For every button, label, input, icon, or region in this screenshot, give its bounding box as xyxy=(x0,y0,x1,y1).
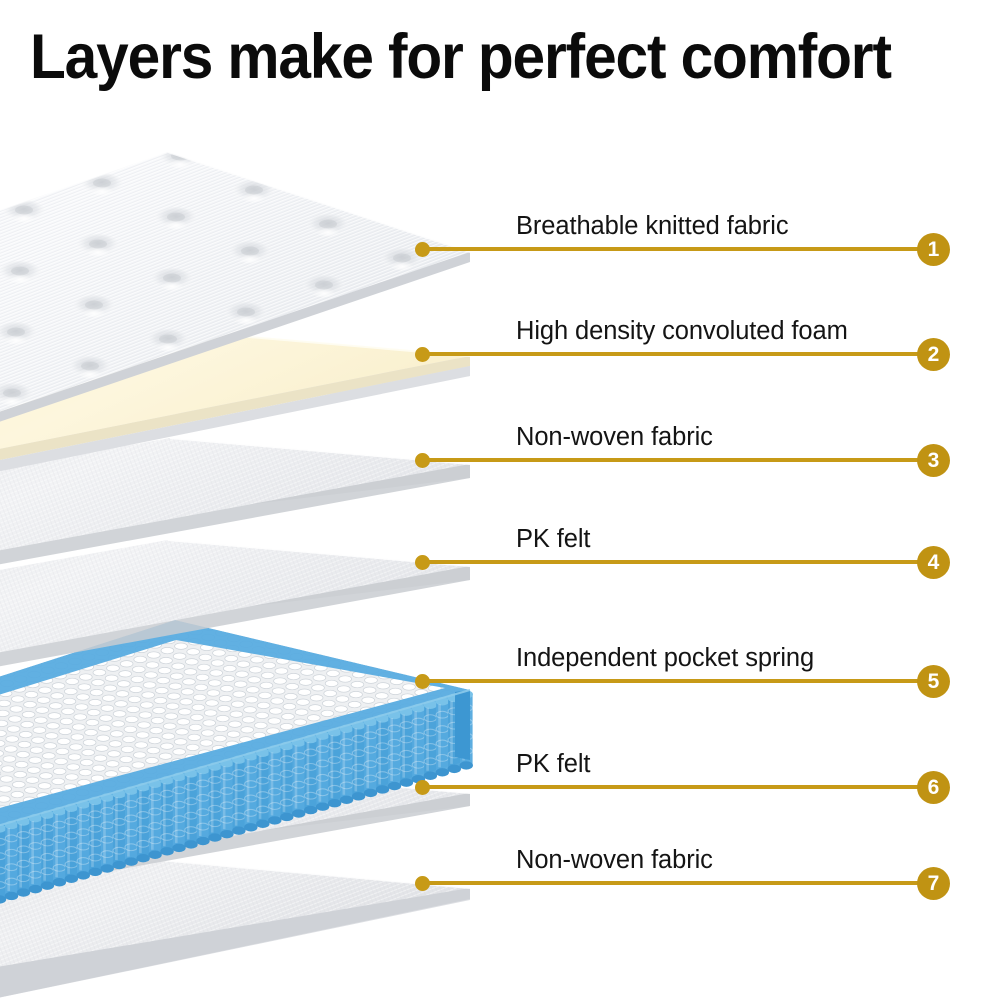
callout-line-3 xyxy=(422,458,933,462)
callout-label-7: Non-woven fabric xyxy=(516,846,713,875)
callout-dot-2 xyxy=(415,347,430,362)
callout-label-6: PK felt xyxy=(516,750,590,779)
mattress-layers-illustration xyxy=(0,0,1000,1000)
callout-dot-3 xyxy=(415,453,430,468)
callout-badge-1[interactable]: 1 xyxy=(917,233,950,266)
callout-line-6 xyxy=(422,785,933,789)
callout-dot-1 xyxy=(415,242,430,257)
callout-line-4 xyxy=(422,560,933,564)
callout-dot-6 xyxy=(415,780,430,795)
callout-badge-4[interactable]: 4 xyxy=(917,546,950,579)
callout-dot-4 xyxy=(415,555,430,570)
callout-line-1 xyxy=(422,247,933,251)
layer-diagram-infographic: Layers make for perfect comfort xyxy=(0,0,1000,1000)
callout-badge-3[interactable]: 3 xyxy=(917,444,950,477)
callout-label-3: Non-woven fabric xyxy=(516,423,713,452)
callout-label-1: Breathable knitted fabric xyxy=(516,212,789,241)
callout-label-5: Independent pocket spring xyxy=(516,644,814,673)
callout-dot-5 xyxy=(415,674,430,689)
callout-dot-7 xyxy=(415,876,430,891)
callout-badge-2[interactable]: 2 xyxy=(917,338,950,371)
callout-label-2: High density convoluted foam xyxy=(516,317,848,346)
callout-line-2 xyxy=(422,352,933,356)
callout-line-7 xyxy=(422,881,933,885)
callout-label-4: PK felt xyxy=(516,525,590,554)
callout-badge-5[interactable]: 5 xyxy=(917,665,950,698)
callout-badge-7[interactable]: 7 xyxy=(917,867,950,900)
callout-line-5 xyxy=(422,679,933,683)
callout-badge-6[interactable]: 6 xyxy=(917,771,950,804)
